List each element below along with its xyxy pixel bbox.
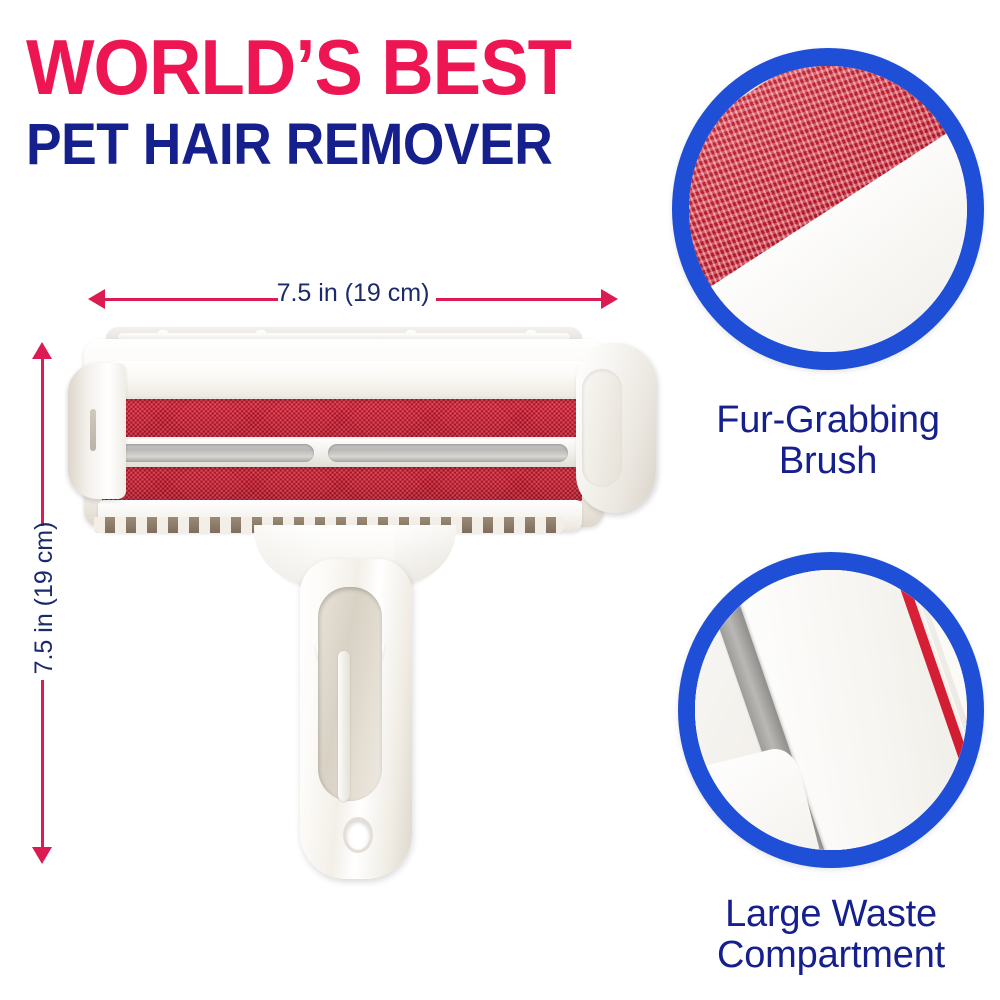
handle-rib — [338, 651, 350, 801]
headline-block: WORLD’S BEST PET HAIR REMOVER — [26, 30, 636, 174]
callout-label-brush-line2: Brush — [672, 441, 984, 482]
callout-image-waste — [678, 552, 984, 868]
handle-hang-hole — [343, 817, 373, 853]
roller-body — [84, 339, 604, 527]
handle-grip — [300, 559, 412, 879]
handle-cavity — [318, 587, 382, 801]
infographic-canvas: WORLD’S BEST PET HAIR REMOVER 7.5 in (19… — [0, 0, 1000, 1000]
separator-bar — [102, 439, 584, 467]
end-knob-inner — [582, 369, 622, 487]
width-rule-left — [102, 298, 278, 301]
roller-end-cap-left — [68, 363, 126, 499]
callout-label-waste-line2: Compartment — [678, 935, 984, 976]
callout-label-waste: Large Waste Compartment — [678, 894, 984, 976]
product-handle — [260, 525, 450, 885]
callout-label-waste-line1: Large Waste — [678, 894, 984, 935]
width-rule-right — [436, 298, 604, 301]
separator-segment-left — [116, 444, 314, 462]
brush-closeup-scene — [689, 66, 966, 352]
headline-line-2: PET HAIR REMOVER — [26, 116, 587, 174]
callout-large-waste-compartment: Large Waste Compartment — [678, 552, 984, 976]
height-dimension-label: 7.5 in (19 cm) — [29, 352, 59, 844]
width-dimension: 7.5 in (19 cm) — [88, 278, 618, 318]
roller-head — [68, 325, 658, 540]
arrow-down-icon — [32, 847, 52, 864]
separator-segment-right — [328, 444, 568, 462]
end-cap-slot — [90, 409, 96, 451]
callout-label-brush-line1: Fur-Grabbing — [672, 400, 984, 441]
headline-line-1: WORLD’S BEST — [26, 30, 593, 104]
roller-white-band-top — [104, 361, 594, 397]
waste-closeup-scene — [695, 570, 967, 851]
callout-label-brush: Fur-Grabbing Brush — [672, 400, 984, 482]
width-dimension-label: 7.5 in (19 cm) — [88, 278, 618, 308]
callout-fur-grabbing-brush: Fur-Grabbing Brush — [672, 48, 984, 482]
arrow-right-icon — [601, 289, 618, 309]
callout-image-brush — [672, 48, 984, 370]
callout-image-inner-brush — [689, 66, 966, 352]
product-photo — [60, 325, 660, 885]
bristle-band-top — [104, 399, 581, 437]
roller-end-knob-right — [576, 343, 656, 513]
height-rule-bottom — [41, 680, 44, 850]
callout-image-inner-waste — [695, 570, 967, 851]
bristle-band-bottom — [102, 467, 582, 501]
